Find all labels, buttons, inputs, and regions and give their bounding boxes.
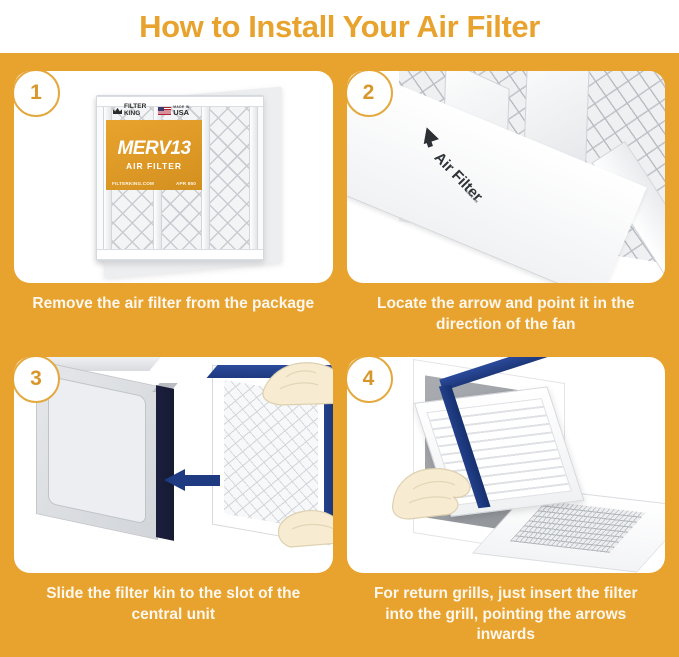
steps-grid: 1 bbox=[0, 53, 679, 657]
crown-icon bbox=[113, 107, 122, 114]
step-3: 3 bbox=[14, 357, 333, 657]
filter-king-logo: FILTER KING bbox=[113, 104, 146, 118]
usa-flag-icon bbox=[158, 107, 171, 115]
step-1: 1 bbox=[14, 71, 333, 353]
slide-filter-diagram bbox=[14, 357, 333, 573]
step-4-illustration bbox=[347, 357, 666, 573]
vent-mesh-texture bbox=[509, 501, 645, 553]
page-title: How to Install Your Air Filter bbox=[139, 9, 540, 45]
central-unit-panel bbox=[48, 376, 146, 525]
filter-brand-row: FILTER KING MADE IN USA bbox=[113, 104, 190, 118]
return-grill-diagram bbox=[347, 357, 666, 573]
made-in-usa-text: MADE IN USA bbox=[173, 105, 189, 117]
step-4-caption: For return grills, just insert the filte… bbox=[347, 584, 666, 646]
step-3-card: 3 bbox=[14, 357, 333, 573]
step-1-caption: Remove the air filter from the package bbox=[14, 294, 333, 315]
header-band: How to Install Your Air Filter bbox=[0, 0, 679, 53]
filter-edge-bottom bbox=[97, 249, 263, 260]
filter-pleat bbox=[249, 102, 258, 254]
merv-rating: MERV13 bbox=[106, 139, 202, 158]
air-filter-box-icon: FILTER KING MADE IN USA bbox=[96, 89, 274, 265]
filter-box-face: FILTER KING MADE IN USA bbox=[96, 95, 264, 261]
merv-subtitle: AIR FILTER bbox=[106, 161, 202, 171]
merv13-label: MERV13 AIR FILTER FILTERKING.COM APR 850 bbox=[106, 120, 202, 190]
hand-icon-top bbox=[260, 359, 333, 407]
merv-label-footer: FILTERKING.COM APR 850 bbox=[106, 181, 202, 186]
hand-icon bbox=[391, 463, 479, 523]
step-3-illustration bbox=[14, 357, 333, 573]
step-4-card: 4 bbox=[347, 357, 666, 573]
step-2-badge: 2 bbox=[347, 71, 393, 117]
step-1-card: 1 bbox=[14, 71, 333, 283]
step-2-card: 2 Air Filter AIRFLOW bbox=[347, 71, 666, 283]
step-2-caption: Locate the arrow and point it in the dir… bbox=[347, 294, 666, 335]
filter-slot bbox=[156, 385, 174, 541]
made-in-usa-badge: MADE IN USA bbox=[158, 105, 189, 117]
insert-direction-arrow-icon bbox=[164, 469, 220, 491]
step-4: 4 bbox=[347, 357, 666, 657]
step-2-illustration: Air Filter AIRFLOW bbox=[347, 71, 666, 283]
step-3-caption: Slide the filter kin to the slot of the … bbox=[14, 584, 333, 625]
step-2: 2 Air Filter AIRFLOW Locate the arrow an… bbox=[347, 71, 666, 353]
step-4-badge: 4 bbox=[347, 357, 393, 403]
filter-corner-icon: Air Filter AIRFLOW bbox=[347, 71, 666, 283]
filter-pleat bbox=[201, 102, 210, 254]
hand-icon-bottom bbox=[278, 505, 333, 549]
step-1-illustration: FILTER KING MADE IN USA bbox=[14, 71, 333, 283]
apr-rating: APR 850 bbox=[176, 181, 196, 186]
brand-website: FILTERKING.COM bbox=[112, 181, 154, 186]
filter-king-text: FILTER KING bbox=[124, 104, 146, 118]
